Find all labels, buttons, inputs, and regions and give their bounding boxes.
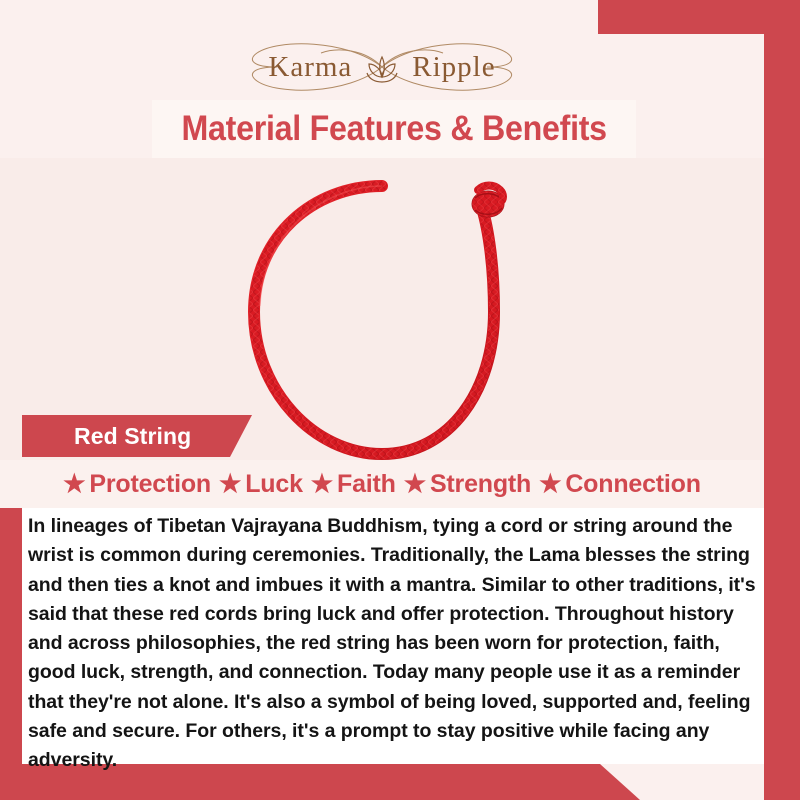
product-name-banner: Red String (22, 415, 252, 457)
star-icon: ★ (311, 472, 333, 497)
star-icon: ★ (219, 472, 241, 497)
feature-item-connection: ★ Connection (535, 470, 705, 499)
title-banner: Material Features & Benefits (152, 100, 636, 158)
red-string-bracelet-image (232, 172, 532, 460)
feature-item-strength: ★ Strength (400, 470, 535, 499)
feature-label: Strength (430, 470, 531, 499)
feature-item-protection: ★ Protection (59, 470, 215, 499)
brand-name-left: Karma (268, 51, 352, 84)
description-paragraph: In lineages of Tibetan Vajrayana Buddhis… (22, 512, 764, 776)
feature-label: Faith (337, 470, 396, 499)
star-icon: ★ (63, 472, 85, 497)
page-title: Material Features & Benefits (181, 109, 606, 149)
product-image-area (0, 158, 764, 460)
feature-item-faith: ★ Faith (307, 470, 400, 499)
feature-item-luck: ★ Luck (215, 470, 307, 499)
feature-label: Protection (89, 470, 211, 499)
decor-band-right (764, 0, 800, 800)
features-strip: ★ Protection ★ Luck ★ Faith ★ Strength ★… (0, 460, 764, 508)
description-card: In lineages of Tibetan Vajrayana Buddhis… (22, 508, 764, 764)
star-icon: ★ (404, 472, 426, 497)
brand-logo: Karma Ripple (0, 34, 764, 100)
features-list: ★ Protection ★ Luck ★ Faith ★ Strength ★… (59, 470, 705, 499)
brand-name-right: Ripple (412, 51, 495, 84)
feature-label: Luck (245, 470, 303, 499)
star-icon: ★ (539, 472, 561, 497)
product-name-label: Red String (74, 423, 191, 450)
infographic-page: Karma Ripple Material Features & Benefit… (0, 0, 800, 800)
feature-label: Connection (565, 470, 701, 499)
